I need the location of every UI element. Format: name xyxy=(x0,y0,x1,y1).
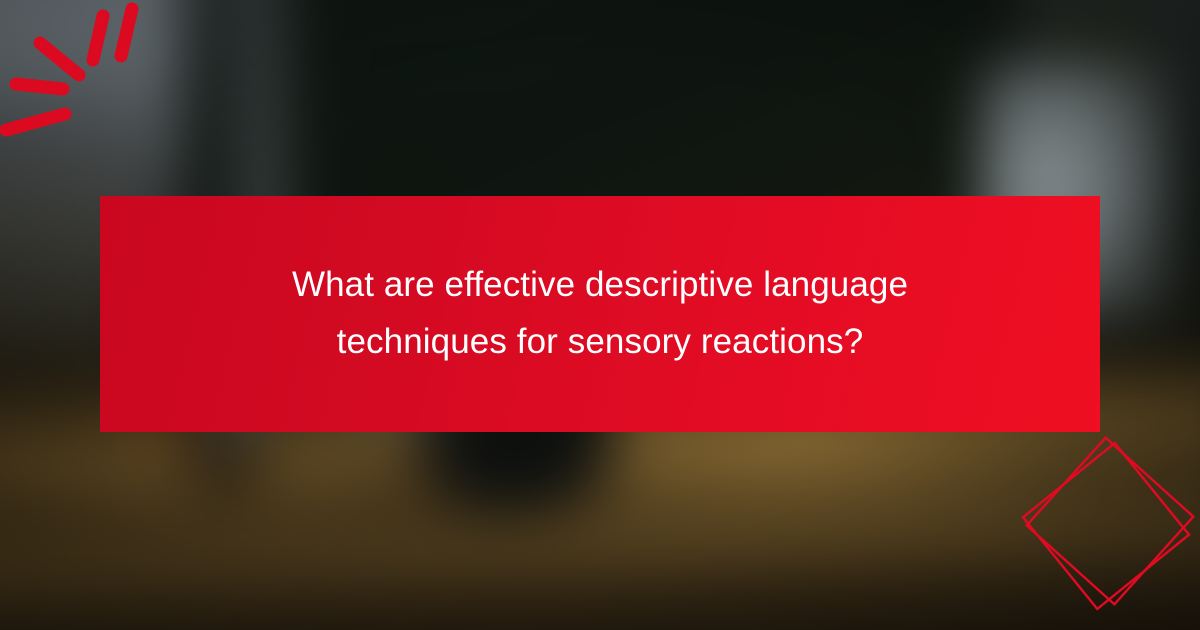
rotated-squares-icon xyxy=(985,415,1200,630)
question-text: What are effective descriptive language … xyxy=(250,257,950,370)
sparkle-burst-icon xyxy=(0,0,180,170)
question-card: What are effective descriptive language … xyxy=(0,0,1200,630)
question-banner: What are effective descriptive language … xyxy=(100,196,1100,432)
